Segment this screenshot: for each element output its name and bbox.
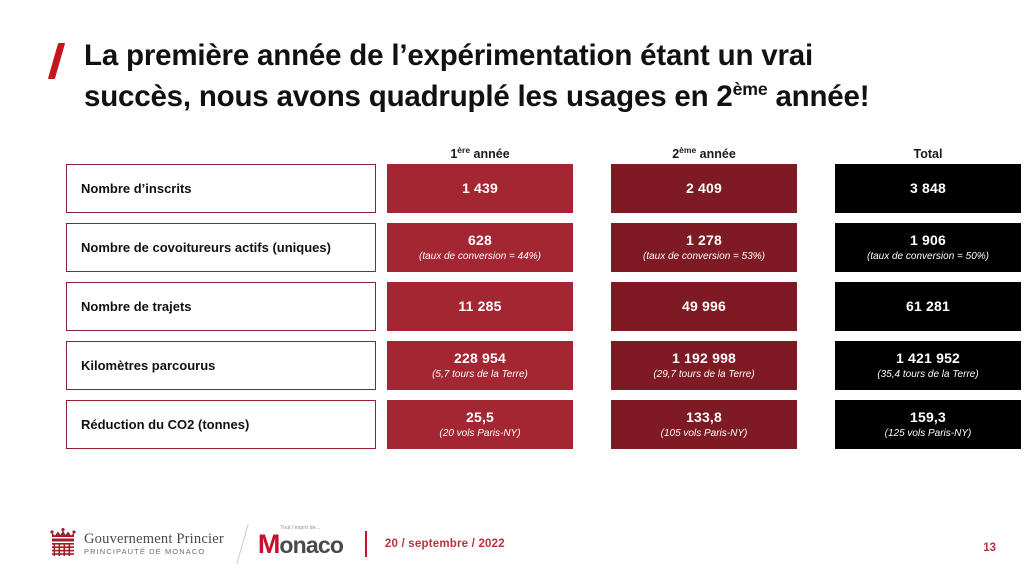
year2-superscript: ème — [679, 145, 696, 155]
title-line-2-pre: succès, nous avons quadruplé les usages … — [84, 80, 733, 113]
value-main: 1 192 998 — [672, 350, 736, 366]
value-main: 1 439 — [462, 180, 498, 196]
value-main: 628 — [468, 232, 492, 248]
value-box-year1: 25,5 (20 vols Paris-NY) — [387, 400, 573, 449]
title-line-2-superscript: ème — [733, 79, 768, 99]
row-label-cell: Nombre d’inscrits — [66, 164, 376, 213]
cell-year2: 1 278 (taux de conversion = 53%) — [611, 223, 797, 272]
row-label-cell: Kilomètres parcourus — [66, 341, 376, 390]
slide-title-block: La première année de l’expérimentation é… — [44, 36, 984, 117]
row-label-cell: Réduction du CO2 (tonnes) — [66, 400, 376, 449]
column-header-year1: 1ère année — [387, 147, 573, 164]
year1-word: année — [470, 147, 510, 161]
cell-total: 3 848 — [835, 164, 1021, 213]
row-label: Réduction du CO2 (tonnes) — [66, 400, 376, 449]
value-main: 11 285 — [458, 298, 501, 314]
value-subtext: (35,4 tours de la Terre) — [877, 369, 978, 381]
value-box-year1: 228 954 (5,7 tours de la Terre) — [387, 341, 573, 390]
value-box-year2: 49 996 — [611, 282, 797, 331]
value-box-year1: 1 439 — [387, 164, 573, 213]
row-label-cell: Nombre de trajets — [66, 282, 376, 331]
value-main: 1 421 952 — [896, 350, 960, 366]
cell-total: 159,3 (125 vols Paris-NY) — [835, 400, 1021, 449]
value-subtext: (taux de conversion = 53%) — [643, 251, 765, 263]
cell-year1: 25,5 (20 vols Paris-NY) — [387, 400, 573, 449]
table-row: Réduction du CO2 (tonnes) 25,5 (20 vols … — [66, 400, 984, 449]
table-row: Nombre de covoitureurs actifs (uniques) … — [66, 223, 984, 272]
row-label-cell: Nombre de covoitureurs actifs (uniques) — [66, 223, 376, 272]
slide-footer: Gouvernement Princier PRINCIPAUTÉ DE MON… — [0, 516, 1024, 576]
gov-subtitle: PRINCIPAUTÉ DE MONACO — [84, 548, 224, 556]
value-subtext: (5,7 tours de la Terre) — [432, 369, 528, 381]
value-main: 133,8 — [686, 409, 722, 425]
footer-left-group: Gouvernement Princier PRINCIPAUTÉ DE MON… — [48, 522, 505, 566]
value-subtext: (105 vols Paris-NY) — [661, 428, 748, 440]
value-main: 1 278 — [686, 232, 722, 248]
cell-total: 1 906 (taux de conversion = 50%) — [835, 223, 1021, 272]
value-subtext: (20 vols Paris-NY) — [439, 428, 520, 440]
table-header-row: 1ère année 2ème année Total — [66, 138, 984, 164]
monaco-wordmark-group: Tout l'esprit de... onaco — [279, 534, 343, 558]
value-main: 228 954 — [454, 350, 506, 366]
value-main: 3 848 — [910, 180, 946, 196]
crown-shield-svg — [48, 528, 78, 560]
page-number: 13 — [983, 542, 996, 554]
page-title: La première année de l’expérimentation é… — [78, 36, 984, 117]
value-box-year2: 2 409 — [611, 164, 797, 213]
value-main: 49 996 — [682, 298, 726, 314]
cell-year1: 1 439 — [387, 164, 573, 213]
monaco-tagline: Tout l'esprit de... — [280, 525, 320, 531]
value-box-total: 1 421 952 (35,4 tours de la Terre) — [835, 341, 1021, 390]
gouvernement-text: Gouvernement Princier PRINCIPAUTÉ DE MON… — [84, 532, 224, 556]
row-label: Nombre de trajets — [66, 282, 376, 331]
value-box-total: 61 281 — [835, 282, 1021, 331]
row-label: Nombre d’inscrits — [66, 164, 376, 213]
table-row: Nombre d’inscrits 1 439 2 409 3 848 — [66, 164, 984, 213]
gov-title: Gouvernement Princier — [84, 532, 224, 547]
monaco-brand-logo: M Tout l'esprit de... onaco — [258, 531, 343, 558]
cell-year1: 228 954 (5,7 tours de la Terre) — [387, 341, 573, 390]
year1-superscript: ère — [457, 145, 470, 155]
value-box-total: 1 906 (taux de conversion = 50%) — [835, 223, 1021, 272]
value-main: 61 281 — [906, 298, 950, 314]
year2-word: année — [696, 147, 736, 161]
gouvernement-princier-logo: Gouvernement Princier PRINCIPAUTÉ DE MON… — [48, 528, 224, 560]
value-box-total: 3 848 — [835, 164, 1021, 213]
logo-slash-divider — [230, 524, 256, 564]
title-line-1: La première année de l’expérimentation é… — [84, 39, 813, 72]
cell-year2: 2 409 — [611, 164, 797, 213]
monaco-initial: M — [258, 531, 280, 558]
value-subtext: (29,7 tours de la Terre) — [653, 369, 754, 381]
value-box-year2: 1 278 (taux de conversion = 53%) — [611, 223, 797, 272]
value-box-year2: 1 192 998 (29,7 tours de la Terre) — [611, 341, 797, 390]
value-box-total: 159,3 (125 vols Paris-NY) — [835, 400, 1021, 449]
table-row: Kilomètres parcourus 228 954 (5,7 tours … — [66, 341, 984, 390]
column-header-total: Total — [835, 147, 1021, 164]
value-box-year1: 628 (taux de conversion = 44%) — [387, 223, 573, 272]
value-subtext: (taux de conversion = 44%) — [419, 251, 541, 263]
table-row: Nombre de trajets 11 285 49 996 61 281 — [66, 282, 984, 331]
title-line-2-post: année! — [767, 80, 869, 113]
row-label: Kilomètres parcourus — [66, 341, 376, 390]
column-header-year2: 2ème année — [611, 147, 797, 164]
footer-divider — [365, 531, 367, 557]
cell-year1: 628 (taux de conversion = 44%) — [387, 223, 573, 272]
cell-total: 61 281 — [835, 282, 1021, 331]
cell-total: 1 421 952 (35,4 tours de la Terre) — [835, 341, 1021, 390]
value-subtext: (taux de conversion = 50%) — [867, 251, 989, 263]
value-box-year2: 133,8 (105 vols Paris-NY) — [611, 400, 797, 449]
value-main: 25,5 — [466, 409, 494, 425]
cell-year2: 133,8 (105 vols Paris-NY) — [611, 400, 797, 449]
cell-year2: 49 996 — [611, 282, 797, 331]
red-slash-accent-icon — [44, 40, 78, 82]
value-main: 1 906 — [910, 232, 946, 248]
footer-date: 20 / septembre / 2022 — [385, 538, 505, 550]
crown-emblem-icon — [48, 528, 78, 560]
cell-year1: 11 285 — [387, 282, 573, 331]
value-main: 159,3 — [910, 409, 946, 425]
monaco-wordmark: onaco — [279, 532, 343, 558]
value-subtext: (125 vols Paris-NY) — [885, 428, 972, 440]
cell-year2: 1 192 998 (29,7 tours de la Terre) — [611, 341, 797, 390]
value-main: 2 409 — [686, 180, 722, 196]
row-label: Nombre de covoitureurs actifs (uniques) — [66, 223, 376, 272]
value-box-year1: 11 285 — [387, 282, 573, 331]
results-table: 1ère année 2ème année Total Nombre d’ins… — [66, 138, 984, 459]
